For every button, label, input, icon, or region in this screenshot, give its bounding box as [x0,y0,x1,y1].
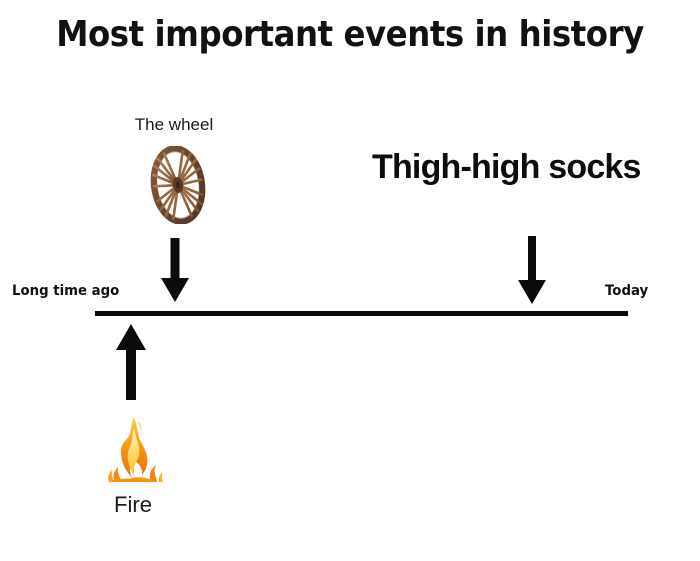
timeline-start-label: Long time ago [12,283,119,299]
event-label-wheel: The wheel [98,115,250,135]
wagon-wheel-image [148,146,208,224]
timeline-axis [95,311,628,316]
down-arrow-icon-wheel [157,238,193,306]
event-label-fire: Fire [68,492,198,518]
event-label-socks: Thigh-high socks [372,148,641,187]
timeline-end-label: Today [605,283,648,299]
fire-image [99,414,169,484]
meme-canvas: Most important events in history The whe… [0,0,700,561]
page-title: Most important events in history [35,14,665,55]
down-arrow-icon-socks [514,236,550,308]
up-arrow-icon-fire [112,324,150,400]
